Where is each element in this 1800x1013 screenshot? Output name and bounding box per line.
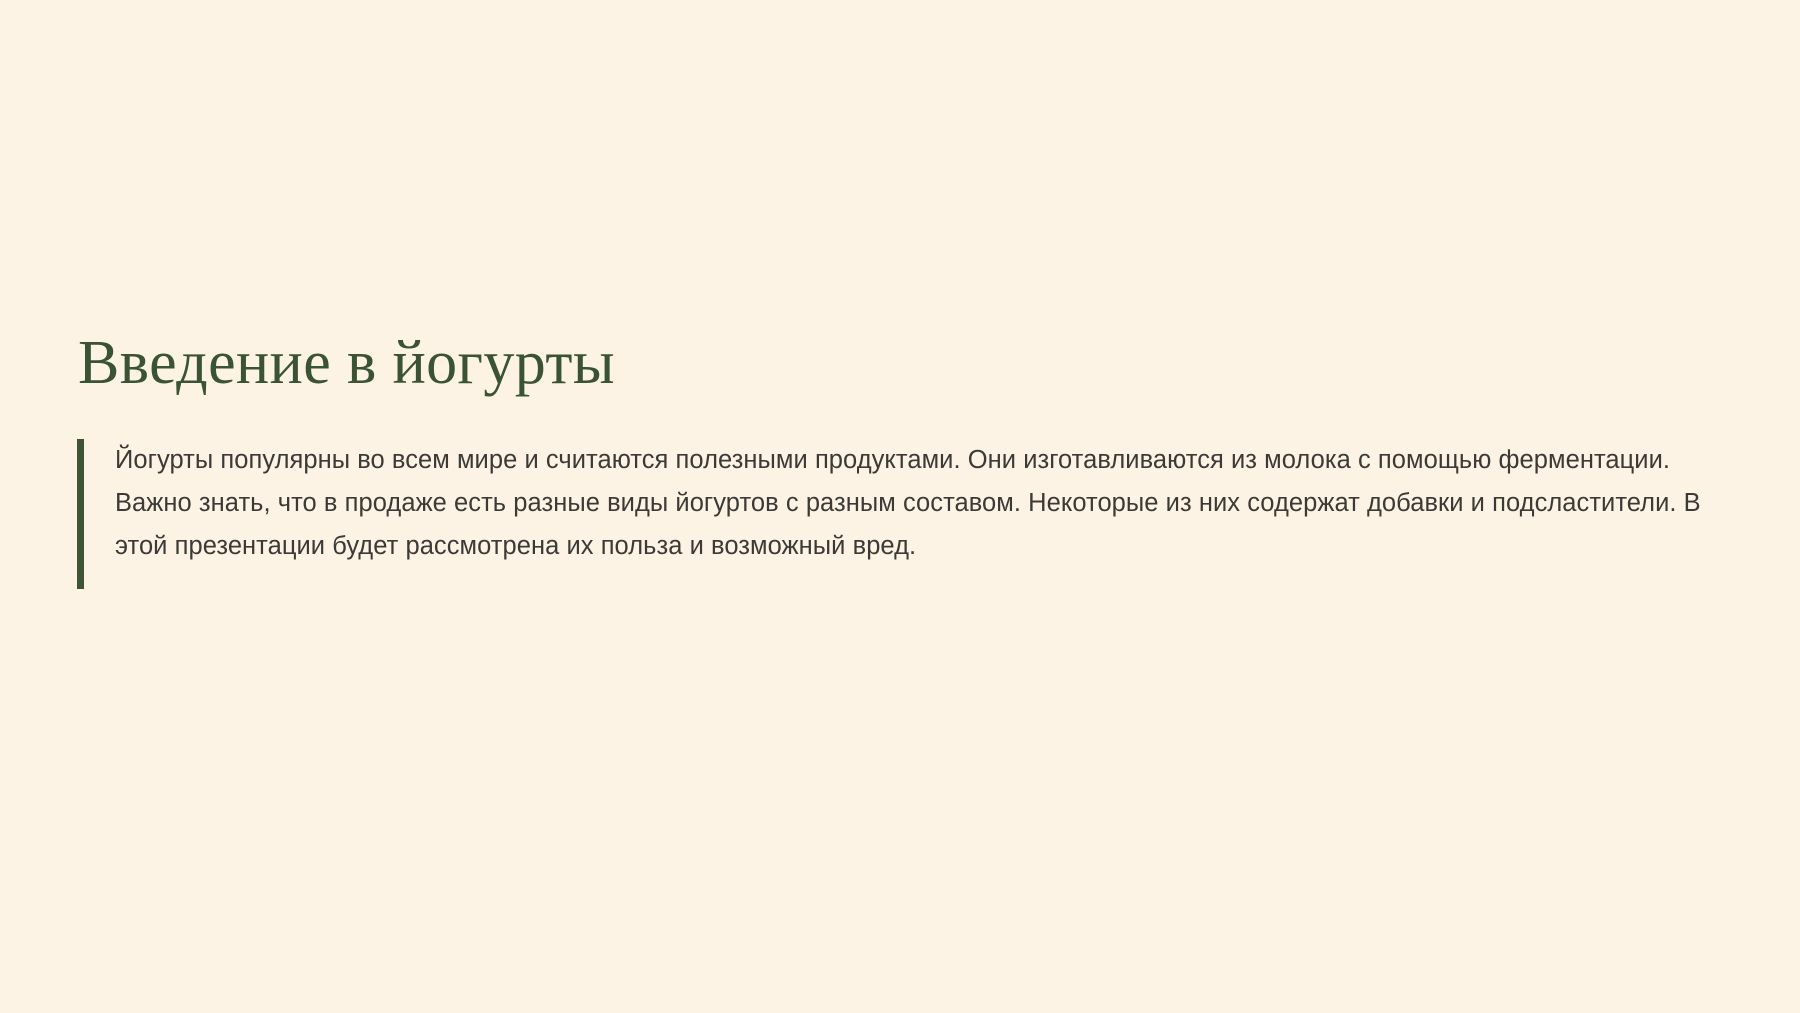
presentation-slide: Введение в йогурты Йогурты популярны во … (0, 0, 1800, 1013)
page-title: Введение в йогурты (77, 330, 1737, 397)
body-callout-block: Йогурты популярны во всем мире и считают… (77, 439, 1737, 589)
accent-bar (77, 439, 84, 589)
slide-content: Введение в йогурты Йогурты популярны во … (77, 330, 1737, 589)
body-paragraph: Йогурты популярны во всем мире и считают… (115, 439, 1737, 568)
